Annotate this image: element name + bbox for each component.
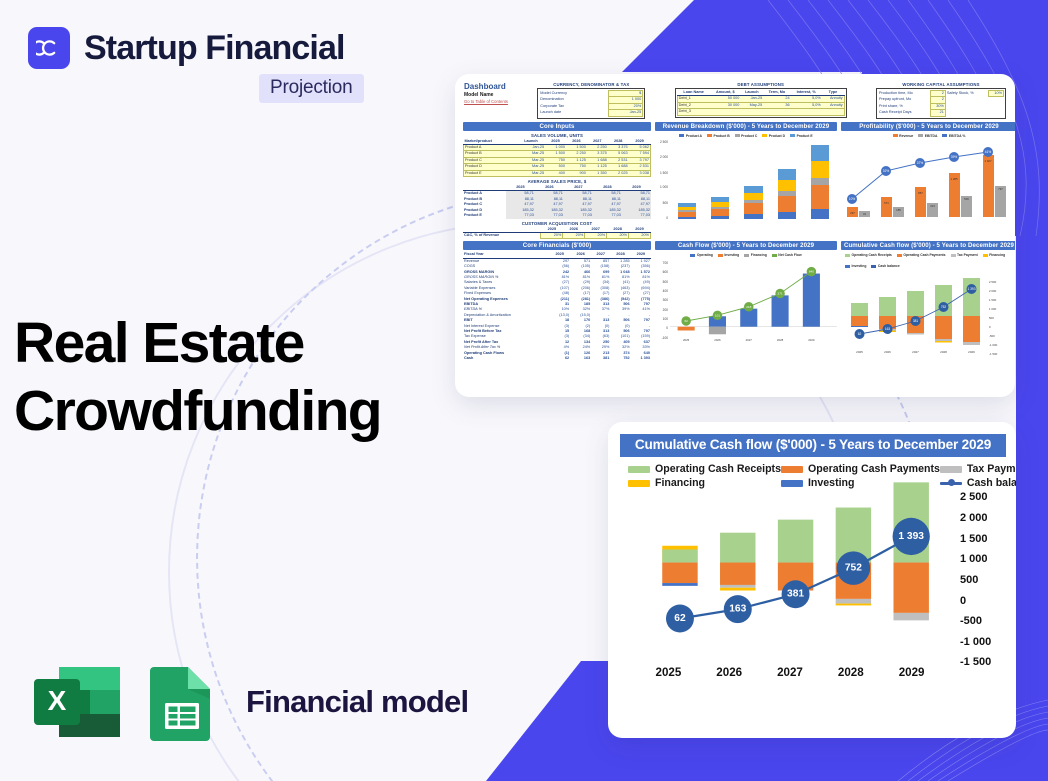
svg-text:2026: 2026 <box>884 350 891 354</box>
dashboard-preview-card[interactable]: Dashboard Model Name Go to Table of Cont… <box>455 74 1015 397</box>
row-value: 752 <box>610 356 630 361</box>
data-label-2028: 752 <box>845 563 862 574</box>
profitability-plot: 10%32%37% 39%41% 29731 571185 857313 1 2… <box>841 141 1015 219</box>
svg-text:41%: 41% <box>985 150 992 154</box>
svg-text:1 927: 1 927 <box>985 159 992 163</box>
chart-y-axis: 2 500 2 000 1 500 1 000 500 0 -500 -1 00… <box>946 487 1006 659</box>
data-label-2027: 381 <box>787 589 804 600</box>
dashboard-lower-row: Fiscal Year 20252026 20272028 2029 Reven… <box>461 252 1009 361</box>
svg-text:185: 185 <box>896 208 901 212</box>
cac-table: 20252026202720282029 CAC, % of Revenue20… <box>463 227 651 240</box>
sales-volume-table: Market/productLaunch 20252026 20272028 2… <box>463 139 651 177</box>
cash-flow-legend: Operating Investing Financing Net Cash F… <box>655 252 837 258</box>
revenue-breakdown-band: Revenue Breakdown ($'000) - 5 Years to D… <box>655 122 837 131</box>
data-label-2029: 1 393 <box>898 531 924 542</box>
svg-text:31: 31 <box>863 212 867 216</box>
cumulative-legend: Operating Cash Receipts Operating Cash P… <box>841 252 1015 269</box>
svg-text:62: 62 <box>858 332 862 336</box>
revenue-breakdown-yaxis: 2 500 2 000 1 500 1 000 500 0 <box>655 141 669 219</box>
svg-text:2028: 2028 <box>777 338 784 342</box>
brand-name: Startup Financial <box>84 29 345 68</box>
legend-swatch-green <box>628 466 650 473</box>
svg-text:-1 000: -1 000 <box>989 343 998 347</box>
svg-text:32%: 32% <box>883 169 890 173</box>
x-tick-2026: 2026 <box>709 666 749 679</box>
profitability-legend: Revenue EBITDA EBITDA % <box>841 133 1015 139</box>
cumulative-cash-flow-band: Cumulative Cash flow ($'000) - 5 Years t… <box>841 241 1015 250</box>
currency-table: Model Currency$ Denomination1 000 Corpor… <box>539 90 643 117</box>
svg-text:752: 752 <box>941 305 947 309</box>
working-capital-table: Production time, Mo2 Safety Stock, %10% … <box>878 90 1004 117</box>
svg-text:2026: 2026 <box>714 338 721 342</box>
dashboard-header: Dashboard Model Name Go to Table of Cont… <box>461 80 1009 119</box>
revenue-breakdown-legend: Product A Product B Product C Product D … <box>655 133 837 139</box>
brand-subtitle: Projection <box>259 74 364 103</box>
svg-text:500: 500 <box>989 316 994 320</box>
legend-item-tax-payment: Tax Payment <box>940 463 1016 475</box>
debt-table: Loan NameAmount, $ LaunchTerm, Mo Intere… <box>677 90 845 116</box>
svg-text:-500: -500 <box>989 334 995 338</box>
core-inputs-band: Core Inputs <box>463 122 651 131</box>
revenue-breakdown-chart: Product A Product B Product C Product D … <box>655 133 837 240</box>
chart-line-layer: 62 163 381 752 1 393 <box>638 501 942 645</box>
page-title-line-1: Real Estate <box>14 310 454 378</box>
svg-text:640: 640 <box>809 270 814 274</box>
svg-text:2025: 2025 <box>683 338 690 342</box>
svg-text:2029: 2029 <box>968 350 975 354</box>
legend-swatch-grey <box>940 466 962 473</box>
cash-flow-plot: 62101218 371640 202520262027 20282029 <box>670 260 837 345</box>
core-financials-band: Core Financials ($'000) <box>463 241 651 250</box>
row-value: 163 <box>570 356 591 361</box>
svg-text:-1 500: -1 500 <box>989 352 998 356</box>
avg-price-table: 20252026202720282029 Product A58,7158,71… <box>463 185 651 218</box>
chart-x-axis: 2025 2026 2027 2028 2029 <box>638 666 942 679</box>
dashboard-band-row: Core Inputs Revenue Breakdown ($'000) - … <box>461 122 1009 131</box>
google-sheets-icon <box>146 663 218 741</box>
profitability-chart: Revenue EBITDA EBITDA % <box>841 133 1015 240</box>
legend-swatch-line <box>940 482 962 485</box>
cash-flow-band: Cash Flow ($'000) - 5 Years to December … <box>655 241 837 250</box>
svg-text:2 500: 2 500 <box>989 280 997 284</box>
svg-text:2028: 2028 <box>940 350 947 354</box>
currency-assumptions-box: CURRENCY, DENOMINATOR & TAX Model Curren… <box>537 82 645 119</box>
svg-text:163: 163 <box>885 327 891 331</box>
svg-text:571: 571 <box>884 201 889 205</box>
svg-text:0: 0 <box>989 325 991 329</box>
page-title: Real Estate Crowdfunding <box>14 310 454 446</box>
svg-text:101: 101 <box>715 314 720 318</box>
svg-text:2027: 2027 <box>912 350 919 354</box>
background-blue-wedge-top <box>622 0 1048 72</box>
microsoft-excel-icon: X <box>30 663 124 741</box>
circular-e-logo-icon <box>28 27 70 69</box>
x-tick-2029: 2029 <box>892 666 932 679</box>
profitability-band: Profitability ($'000) - 5 Years to Decem… <box>841 122 1015 131</box>
dashboard-upper-row: SALES VOLUME, UNITS Market/productLaunch… <box>461 133 1009 240</box>
data-label-2026: 163 <box>729 604 746 615</box>
table-row: Cash621633817521 393 <box>463 356 651 361</box>
svg-text:218: 218 <box>746 305 751 309</box>
svg-text:37%: 37% <box>917 161 924 165</box>
data-label-2025: 62 <box>674 613 686 624</box>
row-label: Cash <box>463 356 549 361</box>
poster-canvas: Startup Financial Projection Real Estate… <box>0 0 1048 781</box>
model-name-label: Model Name <box>464 92 508 99</box>
svg-text:297: 297 <box>850 211 855 215</box>
core-financials-table: Fiscal Year 20252026 20272028 2029 Reven… <box>463 252 651 361</box>
legend-swatch-blue <box>781 480 803 487</box>
svg-text:1 500: 1 500 <box>989 298 997 302</box>
svg-text:381: 381 <box>913 319 919 323</box>
x-tick-2025: 2025 <box>649 666 689 679</box>
table-of-contents-link[interactable]: Go to Table of Contents <box>464 99 508 105</box>
working-capital-box: WORKING CAPITAL ASSUMPTIONS Production t… <box>876 82 1006 119</box>
chart-title: Cumulative Cash flow ($'000) - 5 Years t… <box>620 434 1006 457</box>
legend-item-financing: Financing <box>628 477 781 489</box>
core-inputs-tables: SALES VOLUME, UNITS Market/productLaunch… <box>463 133 651 240</box>
svg-text:X: X <box>48 685 67 716</box>
cumulative-mini-plot: 62163381 7521 393 2 5002 0001 500 1 0005… <box>841 271 1015 356</box>
brand-logo: Startup Financial <box>28 27 345 69</box>
cash-flow-yaxis: 700 600 500 400 300 200 100 0 -100 <box>655 260 669 345</box>
svg-text:10%: 10% <box>849 197 856 201</box>
svg-text:1 000: 1 000 <box>989 307 997 311</box>
chart-plot-area: 62 163 381 752 1 393 2 500 2 000 1 500 1… <box>620 501 1006 679</box>
format-label: Financial model <box>246 684 468 720</box>
row-value: 381 <box>591 356 610 361</box>
chart-legend: Operating Cash Receipts Operating Cash P… <box>620 463 1006 489</box>
svg-text:1 285: 1 285 <box>951 177 958 181</box>
svg-text:313: 313 <box>930 204 935 208</box>
svg-text:62: 62 <box>684 319 688 323</box>
cash-flow-chart: Operating Investing Financing Net Cash F… <box>655 252 837 361</box>
x-tick-2028: 2028 <box>831 666 871 679</box>
x-tick-2027: 2027 <box>770 666 810 679</box>
legend-item-operating-cash-payments: Operating Cash Payments <box>781 463 940 475</box>
svg-text:2029: 2029 <box>808 338 815 342</box>
legend-swatch-orange <box>781 466 803 473</box>
legend-swatch-yellow <box>628 480 650 487</box>
page-title-line-2: Crowdfunding <box>14 378 454 446</box>
row-value: 62 <box>549 356 570 361</box>
debt-assumptions-box: DEBT ASSUMPTIONS Loan NameAmount, $ Laun… <box>675 82 847 119</box>
cumulative-cash-flow-mini-chart: Operating Cash Receipts Operating Cash P… <box>841 252 1015 361</box>
dashboard-title: Dashboard <box>464 82 508 92</box>
svg-text:2025: 2025 <box>856 350 863 354</box>
dashboard-band-row-2: Core Financials ($'000) Cash Flow ($'000… <box>461 241 1009 250</box>
svg-text:39%: 39% <box>951 155 958 159</box>
legend-item-operating-cash-receipts: Operating Cash Receipts <box>628 463 781 475</box>
svg-text:797: 797 <box>998 187 1003 191</box>
svg-text:2027: 2027 <box>746 338 753 342</box>
svg-text:1 393: 1 393 <box>968 287 976 291</box>
svg-text:2 000: 2 000 <box>989 289 997 293</box>
format-badges: X Financial model <box>30 663 468 741</box>
currency-box-header: CURRENCY, DENOMINATOR & TAX <box>537 82 645 88</box>
svg-text:506: 506 <box>964 197 969 201</box>
svg-text:371: 371 <box>778 292 783 296</box>
svg-text:857: 857 <box>918 191 923 195</box>
row-value: 1 393 <box>631 356 651 361</box>
cumulative-cash-flow-card[interactable]: Cumulative Cash flow ($'000) - 5 Years t… <box>608 422 1016 738</box>
